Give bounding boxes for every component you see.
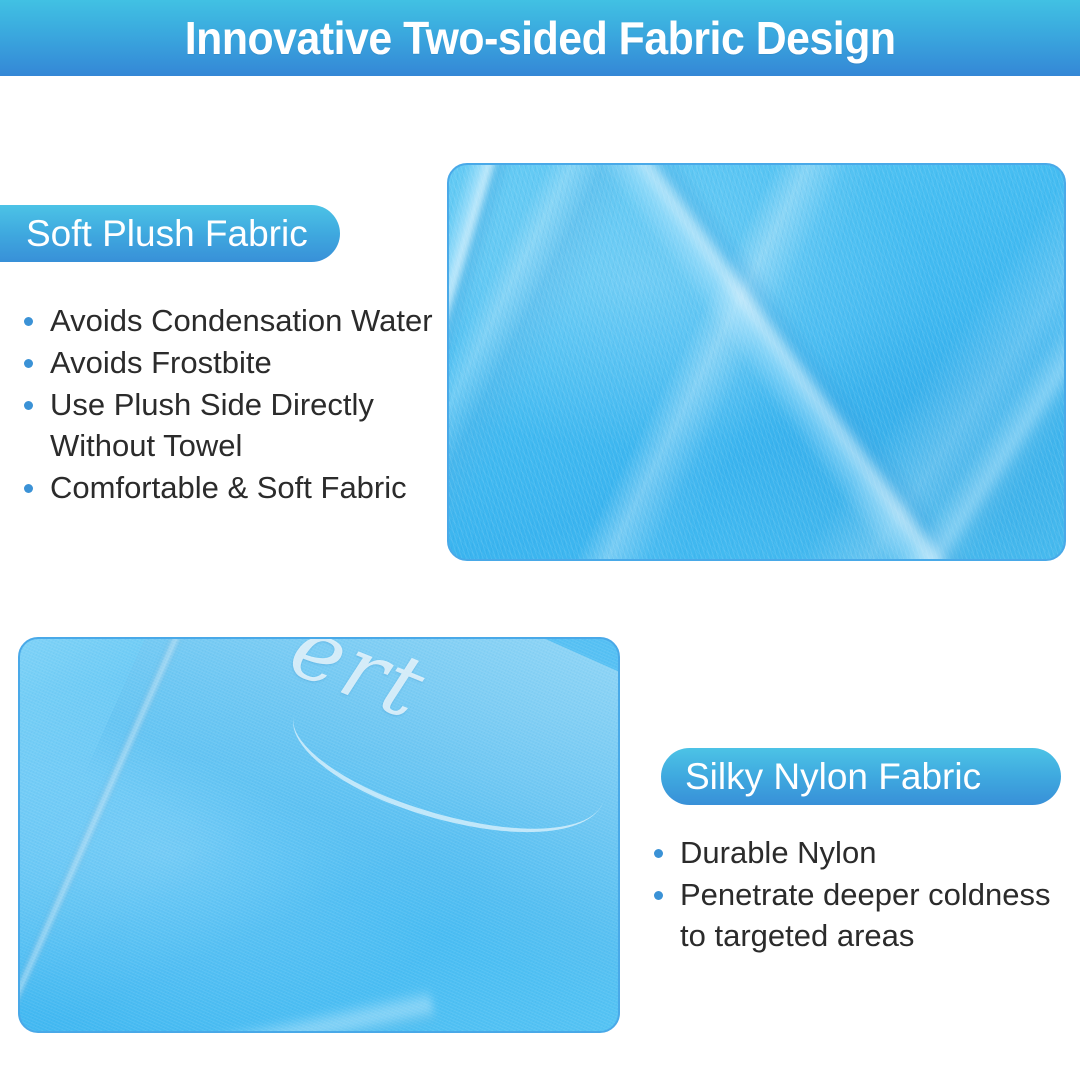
page-title: Innovative Two-sided Fabric Design [185, 15, 896, 61]
section-label-text: Soft Plush Fabric [26, 215, 308, 252]
nylon-weave-texture [20, 639, 618, 1031]
list-item: Penetrate deeper coldness to targeted ar… [648, 874, 1068, 956]
list-item: Comfortable & Soft Fabric [18, 467, 458, 508]
feature-list-soft-plush-fabric: Avoids Condensation Water Avoids Frostbi… [18, 300, 458, 509]
photo-plush-fabric-closeup [447, 163, 1066, 561]
section-label-silky-nylon-fabric: Silky Nylon Fabric [661, 748, 1061, 805]
list-item: Avoids Condensation Water [18, 300, 458, 341]
list-item: Avoids Frostbite [18, 342, 458, 383]
feature-list-silky-nylon-fabric: Durable Nylon Penetrate deeper coldness … [648, 832, 1068, 957]
section-label-soft-plush-fabric: Soft Plush Fabric [0, 205, 340, 262]
list-item: Durable Nylon [648, 832, 1068, 873]
list-item: Use Plush Side Directly Without Towel [18, 384, 458, 466]
header-banner: Innovative Two-sided Fabric Design [0, 0, 1080, 76]
section-label-text: Silky Nylon Fabric [685, 758, 981, 795]
photo-nylon-fabric-closeup: ert [18, 637, 620, 1033]
